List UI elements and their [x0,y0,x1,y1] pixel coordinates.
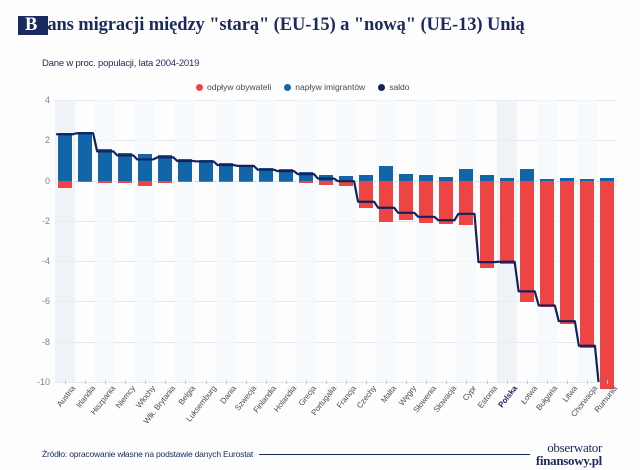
x-axis-tick [105,380,106,384]
x-axis-labels: AustriaIrlandiaHiszpaniaNiemcyWłochyWlk.… [55,384,617,440]
y-axis-tick-label: -4 [24,256,50,266]
x-axis-tick [185,380,186,384]
x-axis-tick [145,380,146,384]
title-rest: ilans migracji między "starą" (EU-15) a … [37,15,524,35]
x-axis-tick [85,380,86,384]
x-axis-label: Cypr [461,384,478,403]
x-axis-label: Polska [496,384,519,409]
y-axis-tick-label: 4 [24,95,50,105]
x-axis-tick [527,380,528,384]
x-axis-tick [226,380,227,384]
x-axis-label: Estonia [476,384,499,410]
page-title: Bilans migracji między "starą" (EU-15) a… [25,15,525,36]
x-axis-tick [487,380,488,384]
x-axis-label: Malta [379,384,398,405]
x-axis-tick [366,380,367,384]
x-axis-tick [326,380,327,384]
x-axis-tick [507,380,508,384]
y-axis-tick-label: -6 [24,296,50,306]
saldo-line-svg [55,100,617,382]
x-axis-tick [607,380,608,384]
plot-wrapper: 420-2-4-6-8-10 AustriaIrlandiaHiszpaniaN… [0,0,640,470]
x-axis-tick [567,380,568,384]
x-axis-tick [547,380,548,384]
y-axis-tick-label: -10 [24,377,50,387]
saldo-line-layer [55,100,617,382]
y-axis-tick-label: 0 [24,176,50,186]
x-axis-tick [266,380,267,384]
x-axis-tick [386,380,387,384]
x-axis-tick [165,380,166,384]
title-first-letter: B [25,15,37,35]
x-axis-tick [286,380,287,384]
x-axis-tick [306,380,307,384]
x-axis-tick [466,380,467,384]
plot-area [55,100,617,382]
x-axis-tick [587,380,588,384]
x-axis-label: Francja [335,384,358,410]
x-axis-tick [346,380,347,384]
x-axis-label: Czechy [355,384,378,410]
footer-divider [259,454,530,455]
chart-page: Bilans migracji między "starą" (EU-15) a… [0,0,640,470]
x-axis-tick [426,380,427,384]
x-axis-tick [406,380,407,384]
x-axis-tick [246,380,247,384]
x-axis-label: Austria [55,384,77,409]
gridline [55,382,617,383]
x-axis-label: Litwa [561,384,579,404]
y-axis-tick-label: -8 [24,337,50,347]
x-axis-tick [125,380,126,384]
x-axis-tick [206,380,207,384]
x-axis-label: Dania [218,384,238,406]
logo-line-2: finansowy.pl [536,454,602,467]
x-axis-tick [446,380,447,384]
brand-logo: obserwator finansowy.pl [536,441,602,467]
y-axis-tick-label: 2 [24,135,50,145]
saldo-line [57,133,615,382]
x-axis-label: Niemcy [114,384,137,410]
x-axis-tick [65,380,66,384]
y-axis-tick-label: -2 [24,216,50,226]
chart-footer: Źródło: opracowanie własne na podstawie … [42,441,602,467]
source-note: Źródło: opracowanie własne na podstawie … [42,449,253,459]
